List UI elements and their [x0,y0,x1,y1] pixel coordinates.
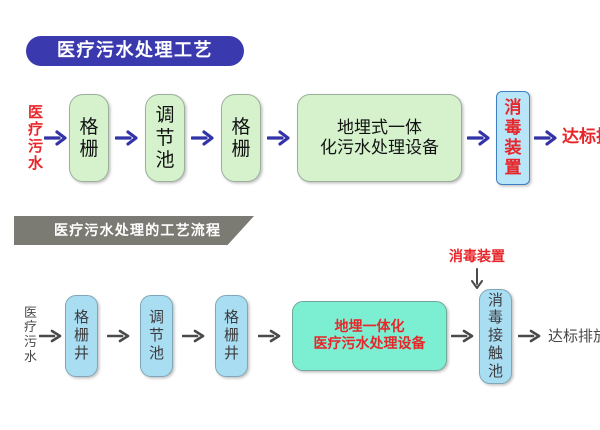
flow2-node-disinfection-contact-tank-label: 消 毒 接 触 池 [488,292,503,380]
flow2-arrow-1 [37,328,65,344]
flow1-arrow-6 [530,129,562,147]
flow2-disinfection-callout-label: 消毒装置 [429,250,525,264]
flow1-node-disinfection-device-label: 消 毒 装 置 [505,98,522,178]
process-flow-row-2: 医疗 污水 格 栅 井 调 节 池 格 栅 井 地埋一体化 医疗污水处理设备 消… [24,290,600,382]
flow2-arrow-4 [248,328,292,344]
flow1-node-disinfection-device: 消 毒 装 置 [496,91,530,185]
flow2-node-regulating-tank-label: 调 节 池 [149,309,164,362]
section2-title-banner: 医疗污水处理的工艺流程 [14,216,254,245]
flow1-arrow-1 [43,129,69,147]
flow1-arrow-5 [462,129,496,147]
flow1-output-label: 达标排放 [562,128,600,147]
down-arrow-icon [429,268,525,290]
process-flow-row-1: 医疗 污水 格 栅 调 节 池 格 栅 地埋式一体 化污水处理设备 消 毒 装 … [28,88,600,188]
flow2-arrow-6 [512,328,548,344]
flow2-arrow-3 [173,328,215,344]
flow2-node-regulating-tank: 调 节 池 [140,295,173,377]
section1-title-text: 医疗污水处理工艺 [57,42,213,60]
section1-title-banner: 医疗污水处理工艺 [26,36,244,66]
flow1-node-grille-2-label: 格 栅 [232,116,251,161]
flow1-node-regulating-tank-label: 调 节 池 [156,104,175,171]
flow1-node-grille-2: 格 栅 [221,94,261,182]
flow1-node-grille-1: 格 栅 [69,94,109,182]
flow2-input-label: 医疗 污水 [24,307,37,365]
flow1-input-label: 医疗 污水 [28,104,43,171]
flow2-node-disinfection-contact-tank: 消 毒 接 触 池 [479,289,512,384]
flow2-node-grille-well-2-label: 格 栅 井 [224,309,239,362]
flow1-node-regulating-tank: 调 节 池 [145,94,185,182]
flow2-node-grille-well-2: 格 栅 井 [215,295,248,377]
flow1-arrow-2 [109,129,145,147]
flow1-node-buried-equipment: 地埋式一体 化污水处理设备 [297,94,462,182]
flow1-node-buried-equipment-label: 地埋式一体 化污水处理设备 [320,118,439,158]
flow2-arrow-2 [98,328,140,344]
flow2-node-buried-equipment: 地埋一体化 医疗污水处理设备 [292,301,447,371]
flow2-node-grille-well-1-label: 格 栅 井 [74,309,89,362]
flow2-node-grille-well-1: 格 栅 井 [65,295,98,377]
flow1-node-grille-1-label: 格 栅 [80,116,99,161]
flow2-disinfection-callout: 消毒装置 [429,250,525,290]
flow1-arrow-3 [185,129,221,147]
flow2-arrow-5 [447,328,479,344]
flow2-output-label: 达标排放 [548,328,600,345]
flow2-node-buried-equipment-label: 地埋一体化 医疗污水处理设备 [314,319,426,352]
flow1-arrow-4 [261,129,297,147]
section2-title-text: 医疗污水处理的工艺流程 [54,224,221,238]
